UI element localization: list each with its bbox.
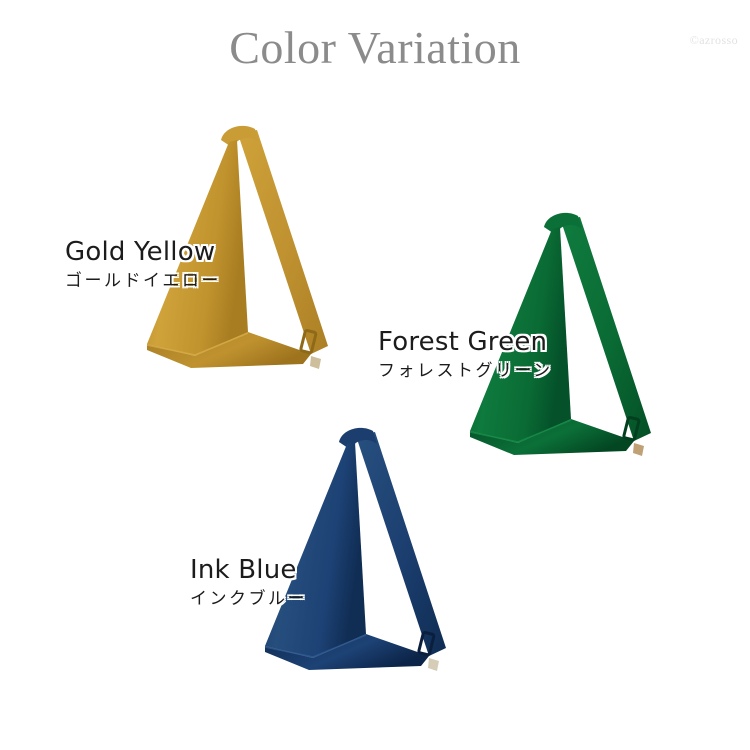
leather-tag-gold [310, 356, 321, 369]
color-variation-page: Color Variation ©azrosso [0, 0, 750, 750]
page-title: Color Variation [0, 20, 750, 75]
color-label-forest-green: Forest Green フォレストグリーン [378, 328, 553, 383]
strap-diagonal-green [561, 217, 651, 441]
color-name-jp-forest-green: フォレストグリーン [378, 360, 553, 384]
leather-tag-green [633, 443, 644, 456]
color-name-en-gold-yellow: Gold Yellow [65, 238, 221, 267]
color-name-jp-gold-yellow: ゴールドイエロー [65, 270, 221, 294]
color-name-jp-ink-blue: インクブルー [190, 588, 307, 612]
watermark: ©azrosso [690, 33, 738, 48]
strap-diagonal-blue [356, 432, 446, 656]
color-name-en-ink-blue: Ink Blue [190, 556, 307, 585]
color-name-en-forest-green: Forest Green [378, 328, 553, 357]
color-label-gold-yellow: Gold Yellow ゴールドイエロー [65, 238, 221, 293]
color-label-ink-blue: Ink Blue インクブルー [190, 556, 307, 611]
strap-diagonal-gold [238, 130, 328, 354]
bag-body-blue [265, 442, 366, 658]
leather-tag-blue [428, 658, 439, 671]
product-image-ink-blue [243, 420, 483, 685]
